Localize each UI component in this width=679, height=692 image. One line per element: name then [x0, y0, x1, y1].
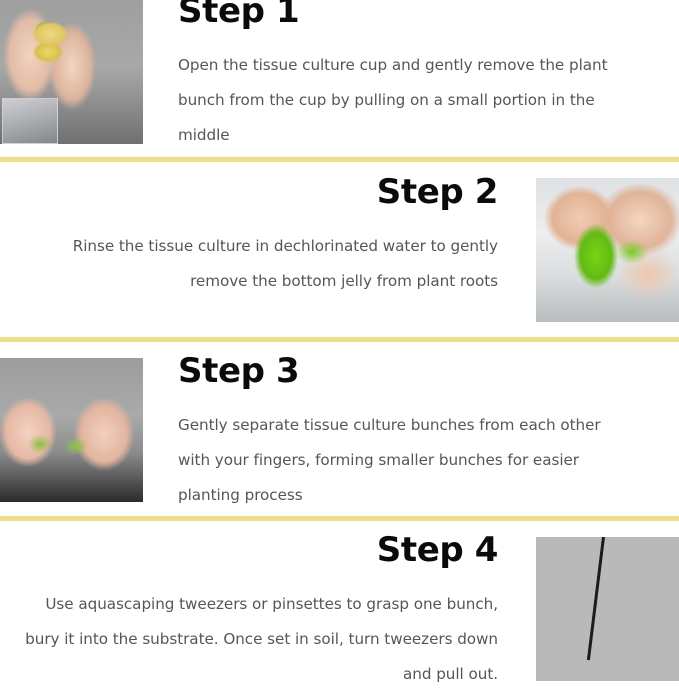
tissue-culture-planting-infographic: Step 1 Open the tissue culture cup and g…: [0, 0, 679, 684]
step-3-heading: Step 3: [178, 352, 634, 390]
step-2-heading: Step 2: [14, 173, 498, 211]
divider-1: [0, 157, 679, 162]
step-row-1: Step 1 Open the tissue culture cup and g…: [0, 0, 679, 152]
step-row-2: Step 2 Rinse the tissue culture in dechl…: [0, 171, 679, 331]
step-row-3: Step 3 Gently separate tissue culture bu…: [0, 350, 679, 510]
step-4-description: Use aquascaping tweezers or pinsettes to…: [14, 587, 498, 692]
step-1-description: Open the tissue culture cup and gently r…: [178, 48, 634, 153]
step-4-text-column: Step 4 Use aquascaping tweezers or pinse…: [14, 531, 498, 692]
step-1-text-column: Step 1 Open the tissue culture cup and g…: [178, 0, 634, 153]
step-3-description: Gently separate tissue culture bunches f…: [178, 408, 634, 513]
hands-opening-tissue-culture-cup-photo: [0, 0, 143, 144]
hands-separating-plant-bunches-photo: [0, 358, 143, 502]
step-4-heading: Step 4: [14, 531, 498, 569]
divider-2: [0, 337, 679, 342]
step-2-description: Rinse the tissue culture in dechlorinate…: [14, 229, 498, 299]
divider-3: [0, 516, 679, 521]
hands-rinsing-plant-in-bowl-photo: [536, 178, 679, 322]
step-1-heading: Step 1: [178, 0, 634, 30]
step-2-text-column: Step 2 Rinse the tissue culture in dechl…: [14, 173, 498, 299]
step-row-4: Step 4 Use aquascaping tweezers or pinse…: [0, 529, 679, 684]
aquascape-rocks-with-tweezers-photo: [536, 537, 679, 681]
step-3-text-column: Step 3 Gently separate tissue culture bu…: [178, 352, 634, 513]
